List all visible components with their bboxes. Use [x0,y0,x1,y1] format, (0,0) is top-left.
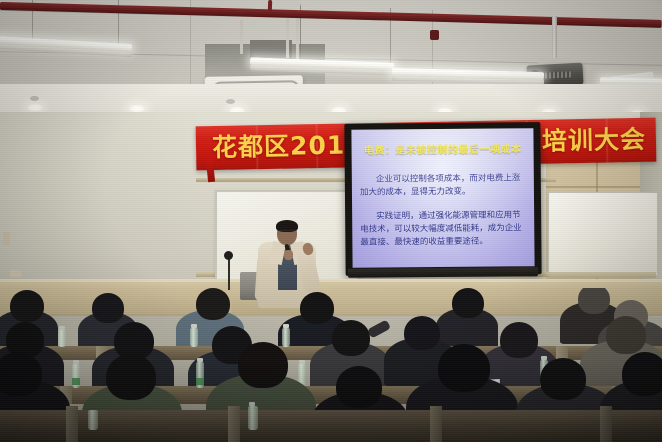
audience-head [300,292,334,324]
water-bottle [248,406,258,430]
slide-paragraph: 实践证明，通过强化能源管理和应用节电技术，可以较大幅度减低能耗，成为企业最直接、… [360,209,526,249]
audience-head [540,358,586,400]
whiteboard-tray [548,272,656,278]
desk-divider [66,406,78,442]
audience-desk-row [0,410,662,442]
desk-divider [600,406,612,442]
audience-head [0,352,42,396]
audience-head [92,293,124,323]
smoke-detector [30,96,39,101]
audience-head [452,288,484,318]
recessed-downlight [26,103,44,112]
projection-screen-bottom-bar [348,267,538,278]
presenter-hand-holding-mic [284,250,293,260]
audience-head [500,322,538,358]
presenter-glasses [279,230,296,235]
audience-head [404,316,440,350]
water-bottle [58,330,66,347]
water-bottle-cap [541,356,547,360]
water-bottle-label [72,378,80,385]
water-bottle-cap [73,360,79,364]
projection-screen: 电费：是未被控制的最后一项成本 企业可以控制各项成本，而对电费上涨加大的成本，显… [351,128,534,268]
whiteboard [548,192,658,276]
water-bottle [190,328,198,347]
raised-arm-camera [367,319,391,338]
water-bottle-cap [191,324,197,328]
audience-head [332,320,370,356]
cable-drop [296,16,299,60]
desk-divider [430,406,442,442]
water-bottle-cap [197,358,203,362]
water-bottle-cap [59,326,65,330]
water-bottle-cap [299,360,305,364]
microphone-stand-head [224,251,233,260]
water-bottle-cap [249,402,255,406]
cable-drop [286,16,289,58]
audience-head [10,290,44,322]
conference-hall-photo: 花都区2014 技术培训大会 电费：是未被控制的最后一项成本 企业可以控制各项成… [0,0,662,442]
slide-title: 电费：是未被控制的最后一项成本 [352,140,534,157]
slide-body: 企业可以控制各项成本，而对电费上涨加大的成本，显得无力改变。 实践证明，通过强化… [360,172,527,260]
cable-drop [240,20,243,54]
wall-fitting [3,232,10,245]
audience-head [238,342,288,388]
audience-head [106,354,156,400]
audience-head [438,344,490,392]
seated-audience [0,288,662,442]
pipe-joint [430,30,439,40]
water-bottle [88,410,98,430]
audience-head [606,316,646,354]
audience-head [196,288,230,320]
desk-divider [228,406,240,442]
water-bottle [282,328,290,347]
microphone-stand [228,256,230,290]
water-bottle-label [196,378,204,385]
slide-paragraph: 企业可以控制各项成本，而对电费上涨加大的成本，显得无力改变。 [360,172,526,199]
banner-text-left: 花都区2014 [212,127,364,166]
projector-mount-pole [552,16,557,62]
audience-head [578,288,610,314]
water-bottle-cap [283,324,289,328]
audience-head [336,366,382,408]
audience-head [622,352,662,396]
fire-sprinkler-pipe-branch [268,0,272,12]
smoke-detector [226,99,235,104]
wall-socket [10,270,21,277]
